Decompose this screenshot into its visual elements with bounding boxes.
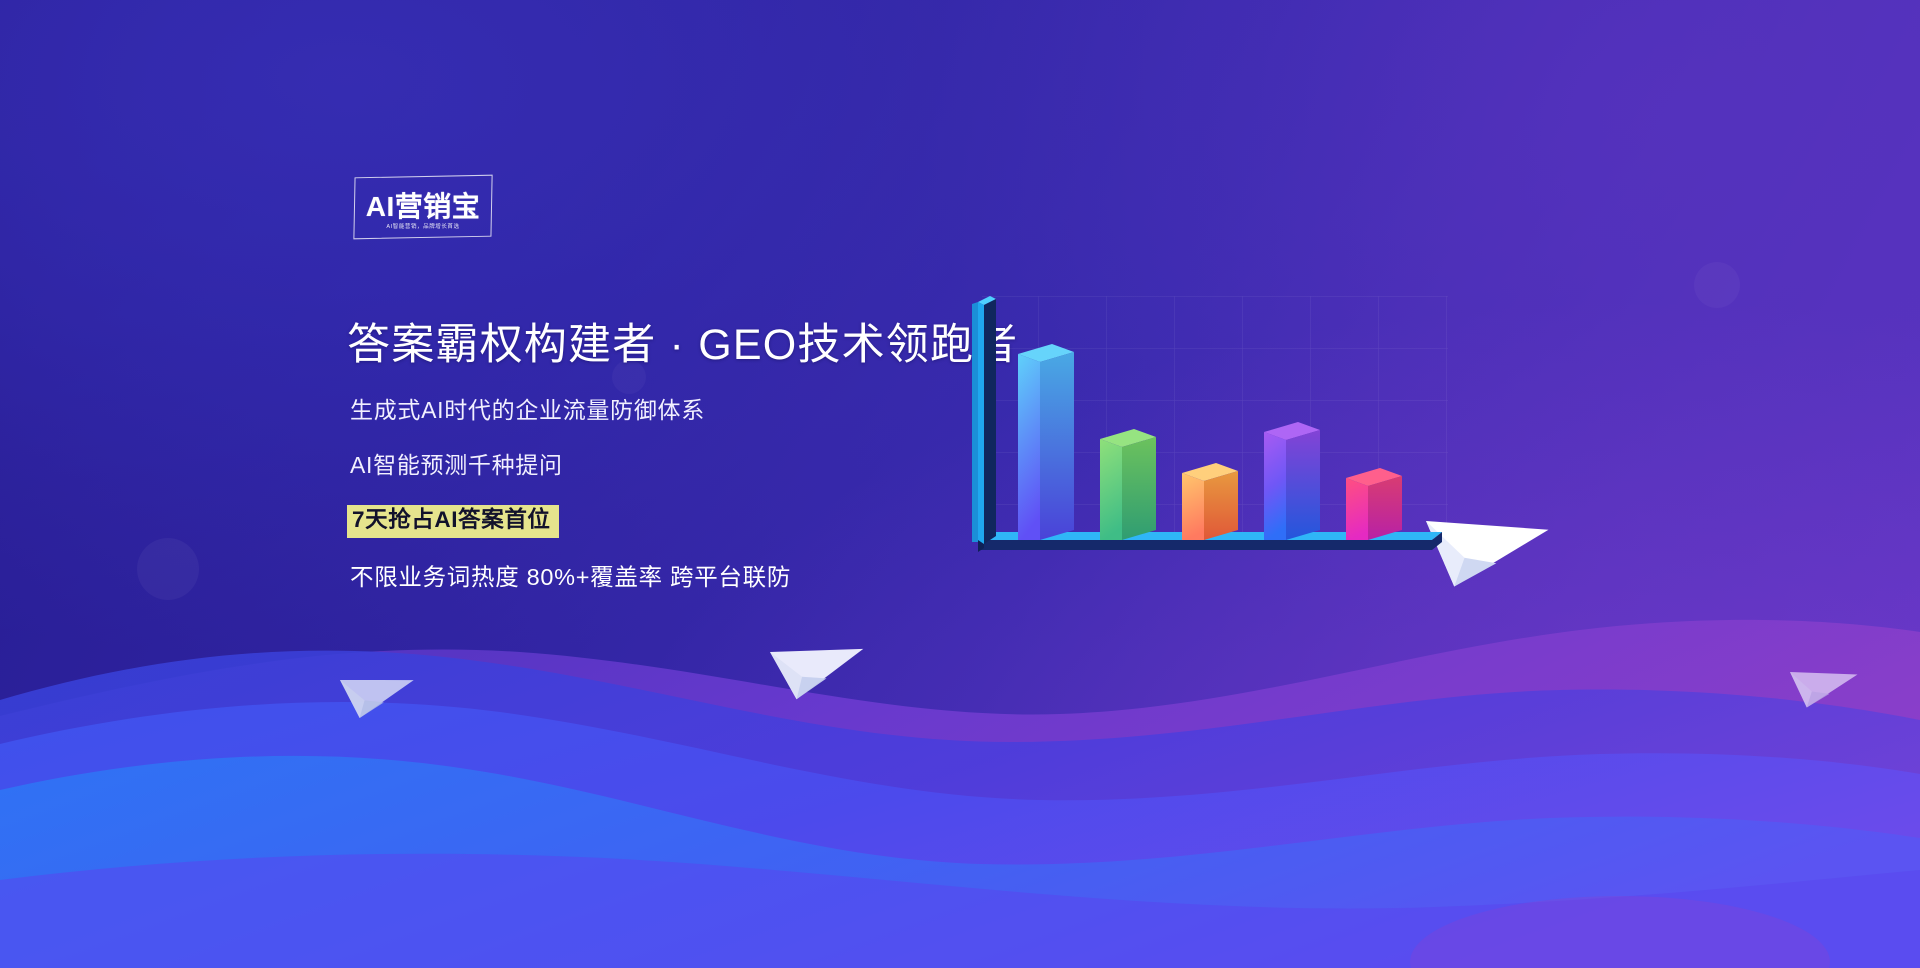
hero-highlight-text: 7天抢占AI答案首位 — [352, 507, 551, 532]
paper-plane-layer — [0, 0, 1920, 968]
paper-plane-left-icon — [340, 660, 420, 720]
banner-stage: AI营销宝 AI智能营销，品牌增长首选 答案霸权构建者 · GEO技术领跑者 生… — [0, 0, 1920, 968]
chart-bar-2 — [1100, 429, 1156, 540]
hero-subline-4: 不限业务词热度 80%+覆盖率 跨平台联防 — [350, 563, 791, 591]
bar-chart — [970, 296, 1450, 666]
hero-subline-1: 生成式AI时代的企业流量防御体系 — [350, 397, 705, 425]
chart-bar-4 — [1264, 422, 1320, 540]
brand-logo[interactable]: AI营销宝 AI智能营销，品牌增长首选 — [354, 176, 492, 238]
paper-plane-center-icon — [770, 624, 872, 702]
hero-highlight-badge: 7天抢占AI答案首位 — [347, 505, 559, 538]
hero-subline-2: AI智能预测千种提问 — [350, 452, 563, 480]
chart-y-axis — [972, 296, 996, 544]
chart-bar-1 — [1018, 344, 1074, 540]
logo-wordmark: AI营销宝 — [366, 193, 481, 221]
chart-bar-3 — [1182, 463, 1238, 540]
chart-bar-5 — [1346, 468, 1402, 540]
paper-plane-far-right-icon — [1790, 656, 1862, 709]
logo-tagline: AI智能营销，品牌增长首选 — [386, 224, 459, 230]
page-title: 答案霸权构建者 · GEO技术领跑者 — [347, 322, 1018, 369]
